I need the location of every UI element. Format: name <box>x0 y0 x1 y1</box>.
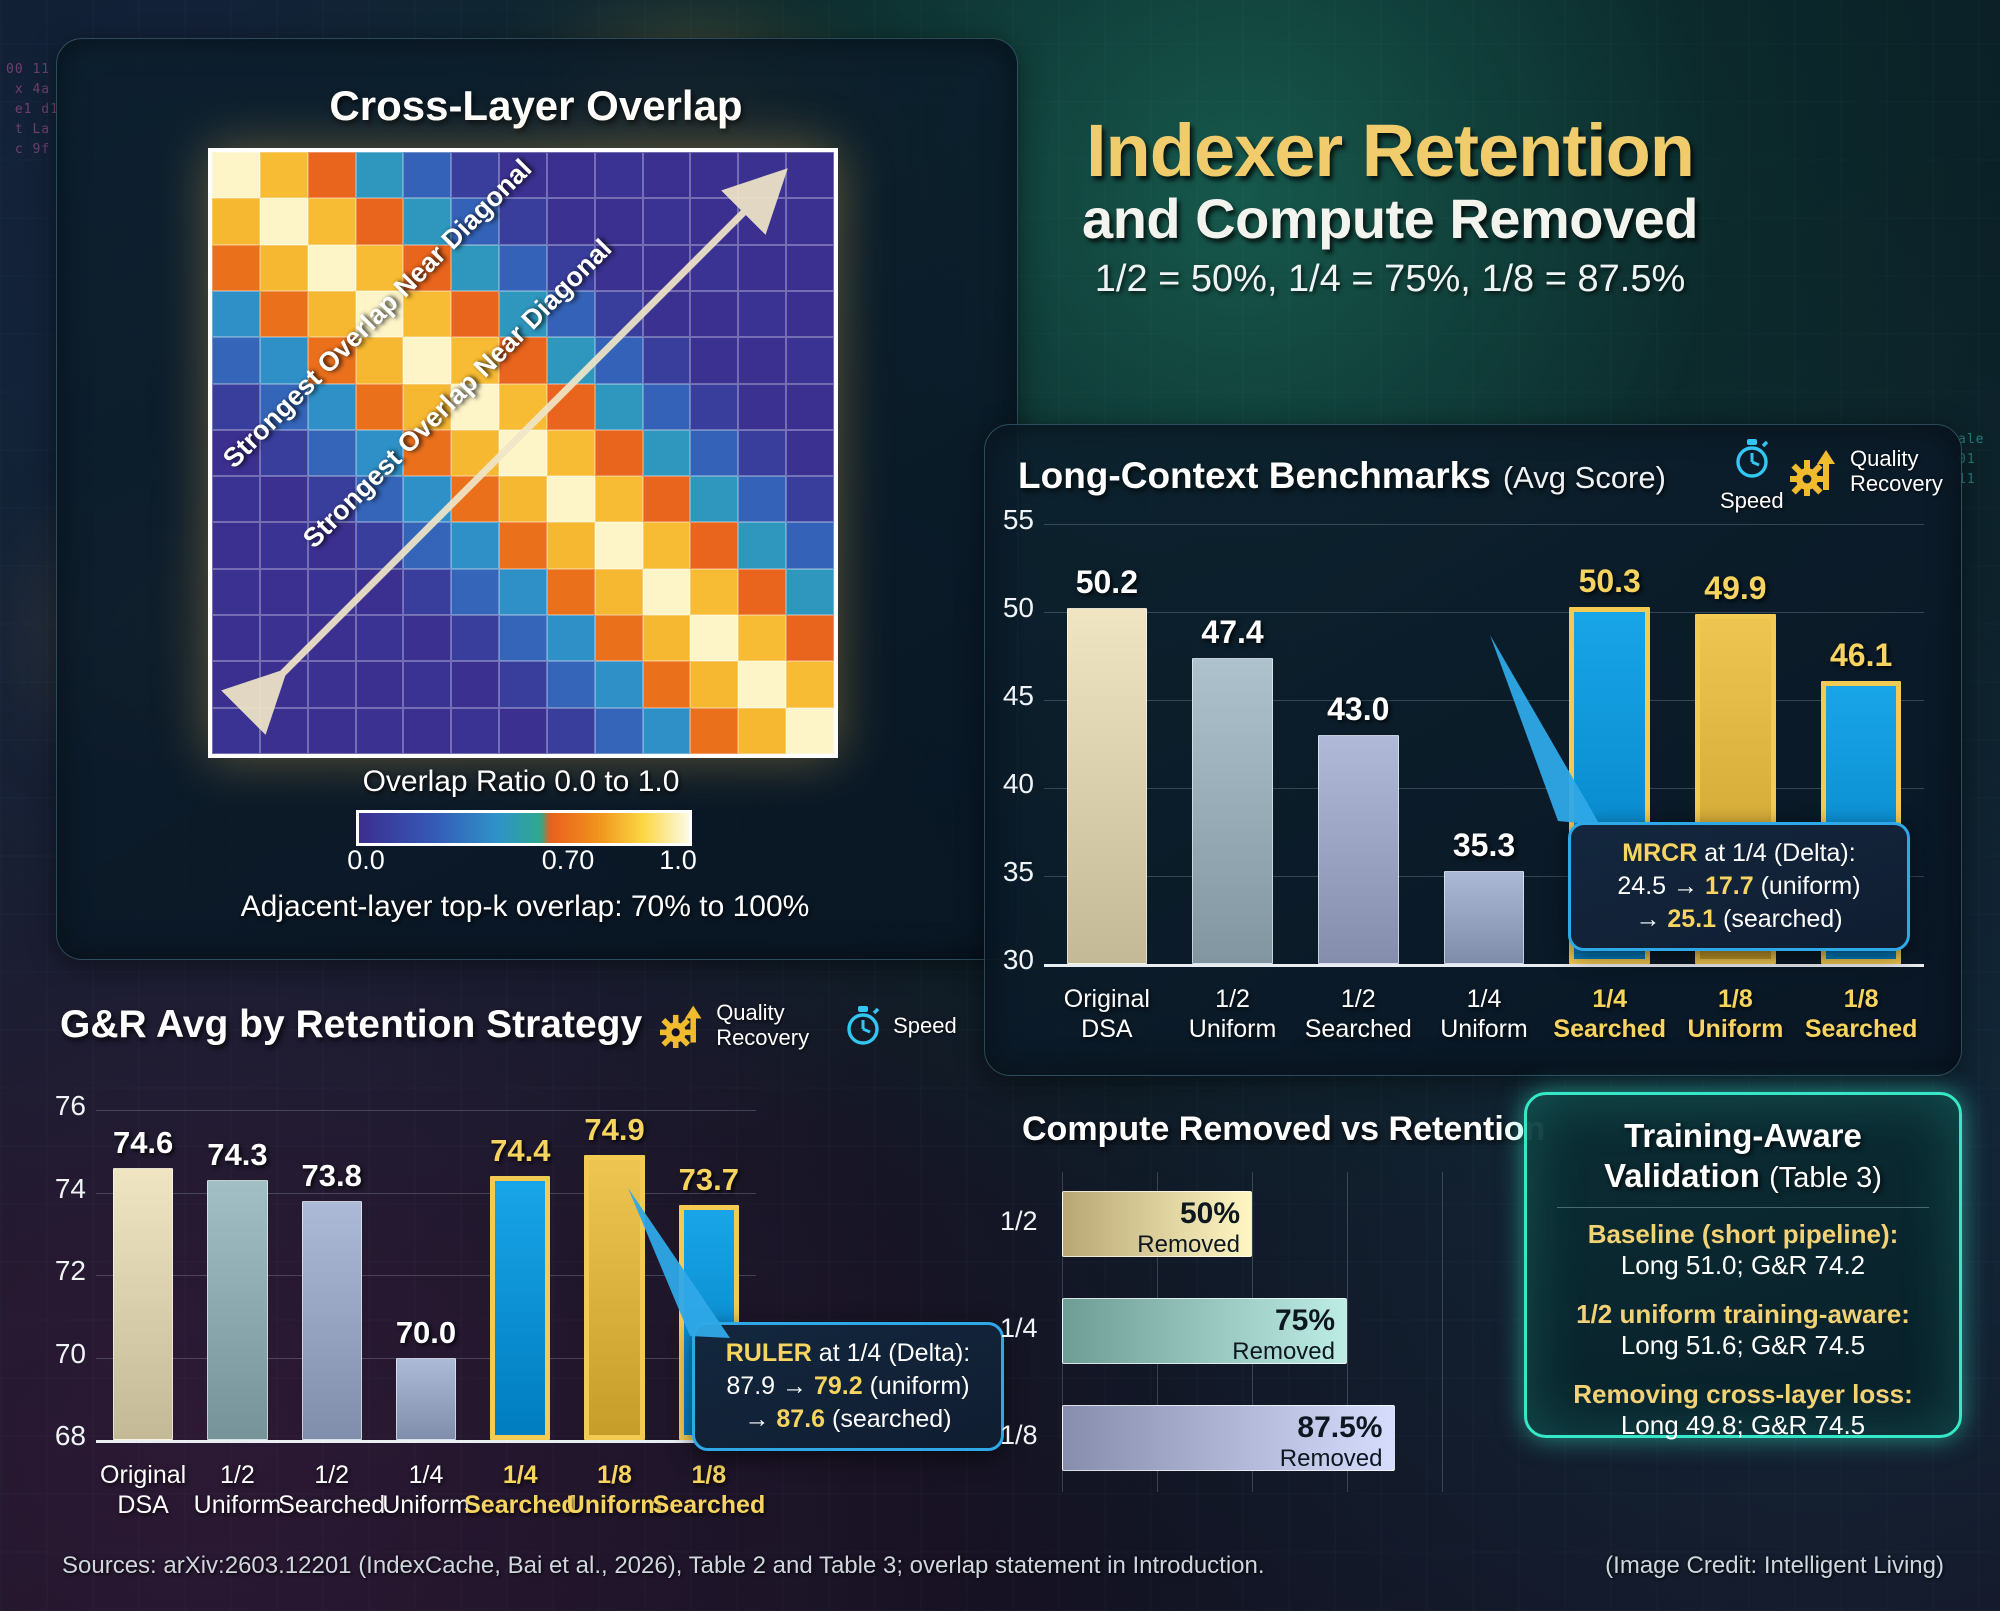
heatmap-cell <box>499 569 547 615</box>
heatmap-cell <box>595 291 643 337</box>
heatmap-cell <box>547 198 595 244</box>
heatmap-cell <box>308 615 356 661</box>
heatmap-cell <box>738 245 786 291</box>
heatmap-cell <box>499 476 547 522</box>
heatmap-cell <box>595 152 643 198</box>
x-category-line: 1/8 <box>653 1460 765 1490</box>
y-axis-tick: 74 <box>18 1173 86 1205</box>
heatmap-cell <box>212 476 260 522</box>
heatmap-cell <box>260 569 308 615</box>
heatmap-cell <box>499 384 547 430</box>
bar-4 <box>490 1176 550 1440</box>
heatmap-cell <box>690 291 738 337</box>
heatmap-cell <box>212 522 260 568</box>
hbar-value-2: 87.5% <box>1062 1411 1383 1445</box>
heatmap-caption: Adjacent-layer top-k overlap: 70% to 100… <box>130 890 920 924</box>
heatmap-cell <box>690 569 738 615</box>
y-axis-tick: 55 <box>966 504 1034 536</box>
footer-credit: (Image Credit: Intelligent Living) <box>1605 1552 1944 1580</box>
mrcr-callout-line2: 24.5 → 17.7 (uniform) <box>1589 870 1889 903</box>
heatmap-cell <box>547 152 595 198</box>
x-category-line: Searched <box>1292 1014 1424 1044</box>
heatmap-cell <box>547 384 595 430</box>
hbar-removed-1: Removed <box>1062 1338 1335 1366</box>
x-category-line: Searched <box>653 1490 765 1520</box>
heatmap-cell <box>499 522 547 568</box>
heatmap-cell <box>403 476 451 522</box>
bar-value-6: 46.1 <box>1799 637 1923 674</box>
heatmap-cell <box>403 522 451 568</box>
heatmap-cell <box>738 152 786 198</box>
colorbar <box>356 810 692 846</box>
bar-value-0: 74.6 <box>91 1125 195 1161</box>
bar-0 <box>113 1168 173 1440</box>
y-axis-tick: 30 <box>966 944 1034 976</box>
y-gridline <box>96 1110 756 1111</box>
heatmap-cell <box>260 198 308 244</box>
bar-value-0: 50.2 <box>1045 564 1169 601</box>
bar-1 <box>207 1180 267 1440</box>
colorbar-tick-2: 1.0 <box>648 845 708 876</box>
heatmap-cell <box>547 569 595 615</box>
heatmap-cell <box>547 476 595 522</box>
heatmap-cell <box>643 198 691 244</box>
heatmap-cell <box>547 708 595 754</box>
heatmap-cell <box>547 337 595 383</box>
y-axis-tick: 70 <box>18 1338 86 1370</box>
mrcr-callout-line3: → 25.1 (searched) <box>1589 903 1889 936</box>
heatmap-cell <box>451 476 499 522</box>
heatmap-cell <box>643 245 691 291</box>
heatmap-cell <box>547 615 595 661</box>
y-axis-tick: 76 <box>18 1090 86 1122</box>
ruler-callout-pointer <box>620 1180 760 1360</box>
colorbar-tick-1: 0.70 <box>528 845 608 876</box>
bar-value-4: 74.4 <box>468 1133 572 1169</box>
heatmap-cell <box>547 430 595 476</box>
heatmap-cell <box>643 476 691 522</box>
heatmap-cell <box>403 152 451 198</box>
heatmap-cell <box>690 198 738 244</box>
compute-removed-title: Compute Removed vs Retention <box>1022 1110 1545 1149</box>
bar-value-1: 47.4 <box>1170 614 1294 651</box>
heatmap-cell <box>212 661 260 707</box>
heatmap-cell <box>403 708 451 754</box>
heatmap-cell <box>403 569 451 615</box>
heatmap-cell <box>738 430 786 476</box>
ruler-callout-line3: → 87.6 (searched) <box>713 1403 983 1436</box>
bar-value-3: 70.0 <box>374 1315 478 1351</box>
heatmap-cell <box>738 615 786 661</box>
heatmap-cell <box>499 615 547 661</box>
training-row: 1/2 uniform training-aware: Long 51.6; G… <box>1537 1299 1949 1361</box>
bar-3 <box>396 1358 456 1441</box>
heatmap-cell <box>786 708 834 754</box>
heatmap-cell <box>786 337 834 383</box>
heatmap-cell <box>643 708 691 754</box>
heatmap-cell <box>212 615 260 661</box>
bar-value-4: 50.3 <box>1547 563 1671 600</box>
heatmap-cell <box>786 291 834 337</box>
x-category-0: OriginalDSA <box>1041 984 1173 1044</box>
heatmap-cell <box>643 615 691 661</box>
x-category-line: Searched <box>1543 1014 1675 1044</box>
heatmap-cell <box>451 430 499 476</box>
bar-value-2: 73.8 <box>280 1158 384 1194</box>
heatmap-cell <box>547 522 595 568</box>
heatmap-cell <box>595 476 643 522</box>
heatmap-cell <box>212 198 260 244</box>
x-category-line: Uniform <box>1418 1014 1550 1044</box>
x-category-line: 1/2 <box>1166 984 1298 1014</box>
overlap-heatmap: Strongest Overlap Near Diagonal Stronges… <box>208 148 838 758</box>
x-axis-line <box>1044 964 1924 967</box>
heatmap-cell <box>690 708 738 754</box>
heatmap-cell <box>403 615 451 661</box>
heatmap-cell <box>738 291 786 337</box>
heatmap-cell <box>356 708 404 754</box>
heatmap-cell <box>595 430 643 476</box>
heatmap-cell <box>690 522 738 568</box>
mrcr-callout-pointer <box>1480 625 1630 845</box>
x-category-line: 1/8 <box>1795 984 1927 1014</box>
y-gridline <box>1044 524 1924 525</box>
colorbar-title: Overlap Ratio 0.0 to 1.0 <box>356 765 686 799</box>
footer-sources: Sources: arXiv:2603.12201 (IndexCache, B… <box>62 1552 1265 1580</box>
heatmap-cell <box>690 661 738 707</box>
heatmap-cell <box>260 476 308 522</box>
bar-value-2: 43.0 <box>1296 691 1420 728</box>
y-axis-tick: 45 <box>966 680 1034 712</box>
bar-2 <box>302 1201 362 1440</box>
heatmap-cell <box>595 615 643 661</box>
heatmap-cell <box>308 152 356 198</box>
heatmap-cell <box>260 708 308 754</box>
training-row: Baseline (short pipeline): Long 51.0; G&… <box>1537 1219 1949 1281</box>
x-category-6: 1/8Searched <box>653 1460 765 1520</box>
hbar-value-0: 50% <box>1062 1197 1240 1231</box>
hbar-category-2: 1/8 <box>1000 1420 1054 1451</box>
heatmap-cell <box>643 152 691 198</box>
x-category-2: 1/2Searched <box>1292 984 1424 1044</box>
y-axis-tick: 68 <box>18 1420 86 1452</box>
heatmap-cell <box>308 198 356 244</box>
hbar-removed-0: Removed <box>1062 1231 1240 1259</box>
heatmap-cell <box>451 661 499 707</box>
training-box-rows: Baseline (short pipeline): Long 51.0; G&… <box>1537 1219 1949 1441</box>
heatmap-cell <box>260 615 308 661</box>
heatmap-cell <box>451 522 499 568</box>
x-gridline <box>1442 1172 1443 1492</box>
heatmap-cell <box>643 661 691 707</box>
heatmap-cell <box>451 291 499 337</box>
y-axis-tick: 35 <box>966 856 1034 888</box>
heatmap-cell <box>356 198 404 244</box>
heatmap-cell <box>738 476 786 522</box>
heatmap-cell <box>643 384 691 430</box>
bar-value-1: 74.3 <box>185 1137 289 1173</box>
heatmap-cell <box>356 569 404 615</box>
heatmap-cell <box>451 708 499 754</box>
heatmap-cell <box>786 569 834 615</box>
x-category-line: 1/2 <box>1292 984 1424 1014</box>
heatmap-cell <box>690 245 738 291</box>
hbar-value-1: 75% <box>1062 1304 1335 1338</box>
heatmap-cell <box>595 661 643 707</box>
heatmap-cell <box>595 198 643 244</box>
heatmap-cell <box>356 661 404 707</box>
gr-legend-speed-label: Speed <box>893 1013 957 1038</box>
colorbar-tick-0: 0.0 <box>336 845 396 876</box>
heatmap-cell <box>738 661 786 707</box>
training-box-divider <box>1557 1207 1929 1208</box>
heatmap-cell <box>499 661 547 707</box>
heatmap-cell <box>403 337 451 383</box>
heatmap-cell <box>499 708 547 754</box>
x-category-line: DSA <box>1041 1014 1173 1044</box>
heatmap-cell <box>690 384 738 430</box>
heatmap-cell <box>643 291 691 337</box>
heatmap-cell <box>738 337 786 383</box>
heatmap-cell <box>786 245 834 291</box>
heatmap-cell <box>403 661 451 707</box>
heatmap-cell <box>212 569 260 615</box>
x-category-4: 1/4Searched <box>1543 984 1675 1044</box>
heatmap-cell <box>738 569 786 615</box>
heatmap-cell <box>690 476 738 522</box>
heatmap-cell <box>260 291 308 337</box>
y-axis-tick: 72 <box>18 1255 86 1287</box>
long-context-chart: 30354045505550.2OriginalDSA47.41/2Unifor… <box>984 424 1960 1074</box>
heatmap-cell <box>690 337 738 383</box>
heatmap-cell <box>786 661 834 707</box>
heatmap-cell <box>212 708 260 754</box>
heatmap-cell <box>595 522 643 568</box>
bar-2 <box>1318 735 1398 964</box>
heatmap-cell <box>260 661 308 707</box>
heatmap-cell <box>499 430 547 476</box>
heatmap-cell <box>308 661 356 707</box>
hbar-category-1: 1/4 <box>1000 1313 1054 1344</box>
bar-0 <box>1067 608 1147 964</box>
heatmap-cell <box>786 430 834 476</box>
heatmap-cell <box>690 430 738 476</box>
x-category-line: Original <box>1041 984 1173 1014</box>
heatmap-cell <box>499 245 547 291</box>
training-row: Removing cross-layer loss: Long 49.8; G&… <box>1537 1379 1949 1441</box>
heatmap-cell <box>260 152 308 198</box>
heatmap-cell <box>643 522 691 568</box>
x-category-6: 1/8Searched <box>1795 984 1927 1044</box>
heatmap-cell <box>547 661 595 707</box>
heatmap-cell <box>643 569 691 615</box>
heatmap-cell <box>308 708 356 754</box>
x-category-line: 1/4 <box>1418 984 1550 1014</box>
x-category-line: Uniform <box>1669 1014 1801 1044</box>
heatmap-cell <box>260 245 308 291</box>
heatmap-cell <box>690 152 738 198</box>
heatmap-cell <box>308 430 356 476</box>
x-category-line: 1/4 <box>1543 984 1675 1014</box>
heatmap-cell <box>308 569 356 615</box>
heatmap-cell <box>356 615 404 661</box>
heatmap-cell <box>786 615 834 661</box>
training-box-title-2: Validation (Table 3) <box>1527 1157 1959 1195</box>
ruler-callout-line2: 87.9 → 79.2 (uniform) <box>713 1370 983 1403</box>
heatmap-cell <box>595 569 643 615</box>
heatmap-cell <box>738 708 786 754</box>
heatmap-cell <box>308 245 356 291</box>
heatmap-cell <box>212 291 260 337</box>
heatmap-cell <box>595 337 643 383</box>
mrcr-callout-line1: MRCR at 1/4 (Delta): <box>1589 837 1889 870</box>
compute-removed-chart: 1/250%Removed1/475%Removed1/887.5%Remove… <box>1000 1160 1460 1520</box>
heatmap-cell <box>212 152 260 198</box>
y-axis-tick: 50 <box>966 592 1034 624</box>
heatmap-cell <box>595 384 643 430</box>
bar-1 <box>1192 658 1272 964</box>
x-category-line: Uniform <box>1166 1014 1298 1044</box>
heatmap-cell <box>212 337 260 383</box>
heatmap-cell <box>643 430 691 476</box>
heatmap-cell <box>738 198 786 244</box>
x-axis-line <box>96 1440 756 1443</box>
heatmap-cell <box>690 615 738 661</box>
heatmap-title: Cross-Layer Overlap <box>56 82 1016 130</box>
training-aware-validation-box: Training-Aware Validation (Table 3) Base… <box>1524 1092 1962 1438</box>
heatmap-cell <box>786 522 834 568</box>
heatmap-cell <box>643 337 691 383</box>
heatmap-cell <box>738 384 786 430</box>
heatmap-cell <box>786 198 834 244</box>
heatmap-cell <box>595 708 643 754</box>
heatmap-cell <box>451 615 499 661</box>
heatmap-cell <box>451 569 499 615</box>
hbar-category-0: 1/2 <box>1000 1206 1054 1237</box>
x-category-line: 1/8 <box>1669 984 1801 1014</box>
heatmap-cell <box>786 384 834 430</box>
heatmap-cell <box>738 522 786 568</box>
x-category-line: Searched <box>1795 1014 1927 1044</box>
training-box-title-1: Training-Aware <box>1527 1117 1959 1155</box>
hbar-removed-2: Removed <box>1062 1445 1383 1473</box>
bar-value-5: 74.9 <box>562 1112 666 1148</box>
heatmap-cell <box>356 522 404 568</box>
code-texture-1: 00 11 x 4a e1 d1 t La c 9f <box>6 60 59 160</box>
heatmap-cell <box>786 152 834 198</box>
bar-3 <box>1444 871 1524 964</box>
x-category-5: 1/8Uniform <box>1669 984 1801 1044</box>
heatmap-cell <box>356 384 404 430</box>
heatmap-cell <box>786 476 834 522</box>
heatmap-cell <box>212 245 260 291</box>
heatmap-cell <box>356 152 404 198</box>
x-category-1: 1/2Uniform <box>1166 984 1298 1044</box>
bar-value-5: 49.9 <box>1673 570 1797 607</box>
x-category-3: 1/4Uniform <box>1418 984 1550 1044</box>
y-axis-tick: 40 <box>966 768 1034 800</box>
